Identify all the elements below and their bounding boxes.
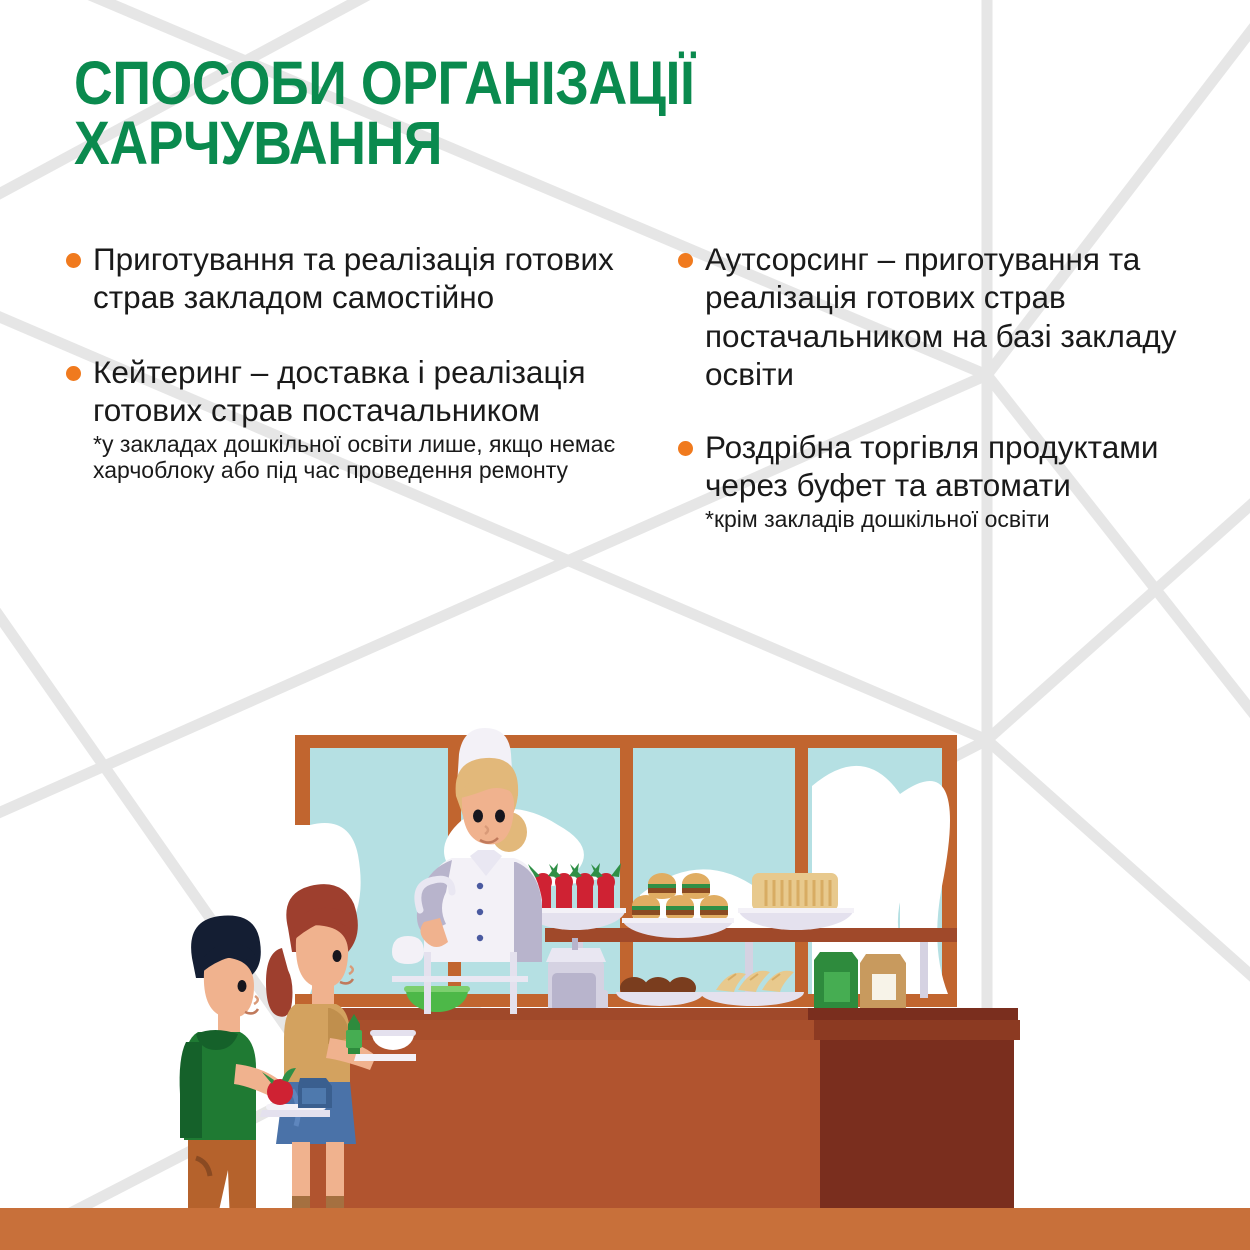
bullet-dot-icon [678, 441, 693, 456]
bullet-footnote: *крім закладів дошкільної освіти [705, 506, 1198, 533]
floor [0, 1208, 1250, 1250]
bullet-text: Кейтеринг – доставка і реалізація готови… [93, 353, 636, 430]
bullet-footnote: *у закладах дошкільної освіти лише, якщо… [93, 431, 636, 484]
bullet-item-right-1: Аутсорсинг – приготування та реалізація … [678, 240, 1198, 394]
bullet-dot-icon [66, 253, 81, 268]
bullet-column-left: Приготування та реалізація готових страв… [66, 240, 636, 504]
lower-shelf [296, 1008, 1018, 1022]
bread-bowl-icon [738, 873, 854, 930]
beverage-dispenser-icon [546, 938, 608, 1012]
bullet-item-left-2: Кейтеринг – доставка і реалізація готови… [66, 353, 636, 484]
page-title-line-2: ХАРЧУВАННЯ [74, 114, 743, 174]
page-title-line-1: СПОСОБИ ОРГАНІЗАЦІЇ [74, 54, 743, 114]
bullet-text: Приготування та реалізація готових страв… [93, 240, 636, 317]
bullet-item-right-2: Роздрібна торгівля продуктами через буфе… [678, 428, 1198, 533]
bullet-text: Аутсорсинг – приготування та реалізація … [705, 240, 1198, 394]
canteen-illustration [0, 690, 1250, 1250]
bullet-dot-icon [678, 253, 693, 268]
page-title: СПОСОБИ ОРГАНІЗАЦІЇ ХАРЧУВАННЯ [74, 54, 834, 174]
infographic-poster: СПОСОБИ ОРГАНІЗАЦІЇ ХАРЧУВАННЯ Приготува… [0, 0, 1250, 1250]
bullet-text: Роздрібна торгівля продуктами через буфе… [705, 428, 1198, 505]
bullet-dot-icon [66, 366, 81, 381]
serving-counter [292, 1020, 1020, 1216]
snack-pack-icon [298, 1078, 332, 1108]
bullet-item-left-1: Приготування та реалізація готових страв… [66, 240, 636, 317]
bullet-column-right: Аутсорсинг – приготування та реалізація … [678, 240, 1198, 552]
buns-tray-icon [616, 977, 704, 1006]
